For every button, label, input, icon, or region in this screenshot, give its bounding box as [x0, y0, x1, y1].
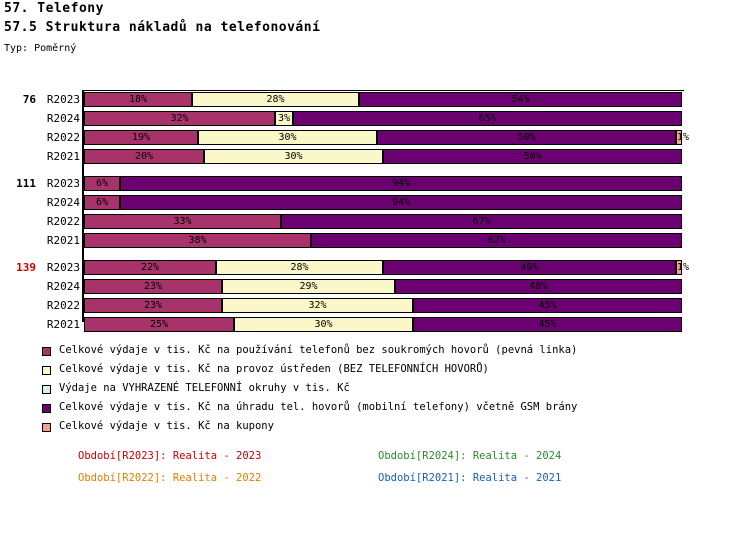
table-row[interactable]: 23%32%45% — [84, 298, 682, 313]
bar-segment-label: 94% — [121, 177, 681, 190]
table-row[interactable]: 25%30%45% — [84, 317, 682, 332]
row-label: R2021 — [40, 234, 80, 247]
row-label: R2021 — [40, 150, 80, 163]
bar-segment-label: 65% — [294, 112, 681, 125]
period-legend-item: Období[R2022]: Realita - 2022 — [78, 472, 261, 484]
row-label: R2023 — [40, 177, 80, 190]
bar-segment-mobilni[interactable]: 48% — [395, 279, 682, 294]
legend-swatch-icon — [42, 366, 51, 375]
bar-segment-label: 54% — [360, 93, 681, 106]
row-label: R2024 — [40, 112, 80, 125]
chart-plot-area: 76R202318%28%54%R202432%3%65%R202219%30%… — [0, 0, 750, 340]
legend-swatch-icon — [42, 423, 51, 432]
table-row[interactable]: 32%3%65% — [84, 111, 682, 126]
bar-segment-label: 6% — [85, 177, 119, 190]
bar-segment-ustredny[interactable]: 30% — [198, 130, 377, 145]
bar-segment-label: 50% — [378, 131, 675, 144]
table-row[interactable]: 19%30%50%1% — [84, 130, 682, 145]
row-label: R2022 — [40, 299, 80, 312]
table-row[interactable]: 18%28%54% — [84, 92, 682, 107]
bar-segment-label: 28% — [217, 261, 382, 274]
bar-segment-label: 25% — [85, 318, 233, 331]
bar-segment-pevna_linka[interactable]: 20% — [84, 149, 204, 164]
bar-segment-pevna_linka[interactable]: 38% — [84, 233, 311, 248]
legend-label: Celkové výdaje v tis. Kč na kupony — [59, 420, 274, 432]
bar-segment-label: 30% — [199, 131, 376, 144]
bar-segment-pevna_linka[interactable]: 23% — [84, 298, 222, 313]
bar-segment-label: 67% — [282, 215, 681, 228]
period-legend-item: Období[R2021]: Realita - 2021 — [378, 472, 561, 484]
row-label: R2022 — [40, 131, 80, 144]
table-row[interactable]: 33%67% — [84, 214, 682, 229]
bar-segment-mobilni[interactable]: 45% — [413, 298, 682, 313]
table-row[interactable]: 38%62% — [84, 233, 682, 248]
legend-item[interactable]: Výdaje na VYHRAZENÉ TELEFONNÍ okruhy v t… — [0, 381, 750, 400]
legend-label: Celkové výdaje v tis. Kč na používání te… — [59, 344, 577, 356]
bar-segment-label: 23% — [85, 280, 221, 293]
bar-segment-label: 48% — [396, 280, 681, 293]
bar-segment-label: 38% — [85, 234, 310, 247]
chart-top-border — [82, 90, 684, 91]
legend-swatch-icon — [42, 385, 51, 394]
bar-segment-label: 3% — [276, 112, 292, 125]
bar-segment-pevna_linka[interactable]: 6% — [84, 176, 120, 191]
legend-item[interactable]: Celkové výdaje v tis. Kč na provoz ústře… — [0, 362, 750, 381]
legend-swatch-icon — [42, 347, 51, 356]
bar-segment-label: 20% — [85, 150, 203, 163]
bar-segment-mobilni[interactable]: 54% — [359, 92, 682, 107]
legend-label: Celkové výdaje v tis. Kč na úhradu tel. … — [59, 401, 577, 413]
group-label: 139 — [2, 261, 36, 274]
bar-segment-mobilni[interactable]: 50% — [377, 130, 676, 145]
bar-segment-ustredny[interactable]: 32% — [222, 298, 413, 313]
bar-segment-label: 1% — [677, 261, 681, 274]
bar-segment-label: 1% — [677, 131, 681, 144]
period-legend-item: Období[R2023]: Realita - 2023 — [78, 450, 261, 462]
bar-segment-mobilni[interactable]: 45% — [413, 317, 682, 332]
bar-segment-label: 6% — [85, 196, 119, 209]
bar-segment-label: 28% — [193, 93, 358, 106]
group-label: 111 — [2, 177, 36, 190]
bar-segment-pevna_linka[interactable]: 6% — [84, 195, 120, 210]
bar-segment-pevna_linka[interactable]: 33% — [84, 214, 281, 229]
bar-segment-pevna_linka[interactable]: 32% — [84, 111, 275, 126]
bar-segment-pevna_linka[interactable]: 25% — [84, 317, 234, 332]
legend-item[interactable]: Celkové výdaje v tis. Kč na úhradu tel. … — [0, 400, 750, 419]
bar-segment-kupony[interactable]: 1% — [676, 260, 682, 275]
legend-swatch-icon — [42, 404, 51, 413]
bar-segment-label: 94% — [121, 196, 681, 209]
row-label: R2022 — [40, 215, 80, 228]
bar-segment-label: 30% — [205, 150, 382, 163]
legend-item[interactable]: Celkové výdaje v tis. Kč na používání te… — [0, 343, 750, 362]
bar-segment-mobilni[interactable]: 65% — [293, 111, 682, 126]
bar-segment-pevna_linka[interactable]: 18% — [84, 92, 192, 107]
bar-segment-ustredny[interactable]: 30% — [204, 149, 383, 164]
bar-segment-label: 50% — [384, 150, 681, 163]
bar-segment-label: 22% — [85, 261, 215, 274]
bar-segment-ustredny[interactable]: 3% — [275, 111, 293, 126]
bar-segment-label: 18% — [85, 93, 191, 106]
legend-label: Celkové výdaje v tis. Kč na provoz ústře… — [59, 363, 489, 375]
bar-segment-label: 33% — [85, 215, 280, 228]
bar-segment-mobilni[interactable]: 62% — [311, 233, 682, 248]
bar-segment-ustredny[interactable]: 28% — [216, 260, 383, 275]
bar-segment-label: 29% — [223, 280, 394, 293]
row-label: R2024 — [40, 196, 80, 209]
row-label: R2023 — [40, 93, 80, 106]
series-legend: Celkové výdaje v tis. Kč na používání te… — [0, 343, 750, 438]
bar-segment-pevna_linka[interactable]: 19% — [84, 130, 198, 145]
bar-segment-kupony[interactable]: 1% — [676, 130, 682, 145]
row-label: R2024 — [40, 280, 80, 293]
bar-segment-label: 45% — [414, 299, 681, 312]
bar-segment-mobilni[interactable]: 50% — [383, 149, 682, 164]
group-label: 76 — [2, 93, 36, 106]
bar-segment-label: 30% — [235, 318, 412, 331]
bar-segment-pevna_linka[interactable]: 23% — [84, 279, 222, 294]
bar-segment-pevna_linka[interactable]: 22% — [84, 260, 216, 275]
row-label: R2023 — [40, 261, 80, 274]
bar-segment-label: 49% — [384, 261, 675, 274]
bar-segment-mobilni[interactable]: 94% — [120, 176, 682, 191]
bar-segment-label: 23% — [85, 299, 221, 312]
legend-item[interactable]: Celkové výdaje v tis. Kč na kupony — [0, 419, 750, 438]
bar-segment-label: 32% — [85, 112, 274, 125]
legend-label: Výdaje na VYHRAZENÉ TELEFONNÍ okruhy v t… — [59, 382, 350, 394]
table-row[interactable]: 6%94% — [84, 195, 682, 210]
bar-segment-ustredny[interactable]: 30% — [234, 317, 413, 332]
bar-segment-mobilni[interactable]: 67% — [281, 214, 682, 229]
row-label: R2021 — [40, 318, 80, 331]
bar-segment-ustredny[interactable]: 28% — [192, 92, 359, 107]
bar-segment-label: 19% — [85, 131, 197, 144]
bar-segment-label: 62% — [312, 234, 681, 247]
bar-segment-mobilni[interactable]: 94% — [120, 195, 682, 210]
table-row[interactable]: 20%30%50% — [84, 149, 682, 164]
bar-segment-label: 45% — [414, 318, 681, 331]
bar-segment-ustredny[interactable]: 29% — [222, 279, 395, 294]
bar-segment-label: 32% — [223, 299, 412, 312]
table-row[interactable]: 22%28%49%1% — [84, 260, 682, 275]
period-legend-item: Období[R2024]: Realita - 2024 — [378, 450, 561, 462]
table-row[interactable]: 23%29%48% — [84, 279, 682, 294]
bar-segment-mobilni[interactable]: 49% — [383, 260, 676, 275]
table-row[interactable]: 6%94% — [84, 176, 682, 191]
